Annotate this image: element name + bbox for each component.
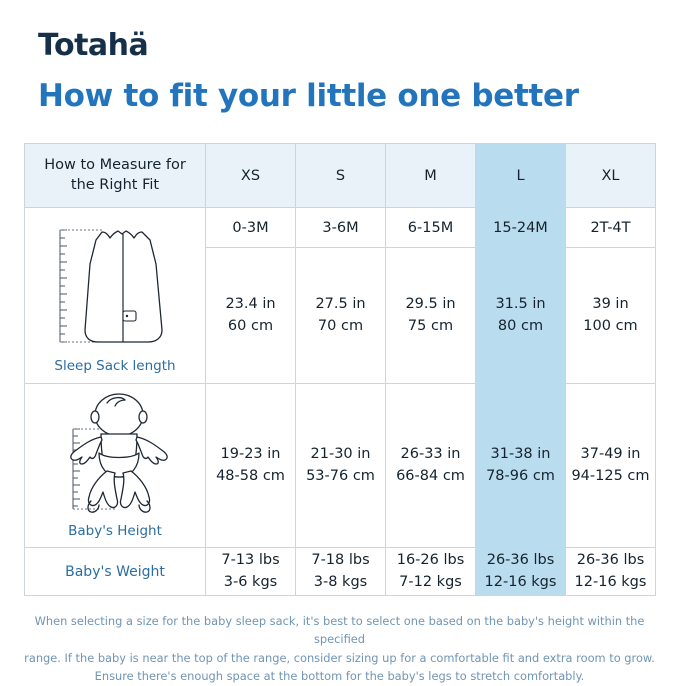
page-title: How to fit your little one better <box>38 78 579 114</box>
table-row-baby-weight: Baby's Weight 7-13 lbs 3-6 kgs 7-18 lbs … <box>25 548 656 596</box>
header-size-m: M <box>386 144 476 208</box>
cell-length-m: 29.5 in 75 cm <box>386 248 476 384</box>
cell-length-xl-cm: 100 cm <box>566 316 655 337</box>
row-label-baby-weight: Baby's Weight <box>65 564 165 580</box>
cell-length-s-in: 27.5 in <box>296 294 385 315</box>
cell-height-xs-cm: 48-58 cm <box>206 466 295 487</box>
size-chart-page: Totahä How to fit your little one better… <box>0 0 679 679</box>
cell-length-xl-in: 39 in <box>566 294 655 315</box>
cell-weight-l-lbs: 26-36 lbs <box>476 550 565 571</box>
sleep-sack-figure-cell: Sleep Sack length <box>25 208 206 384</box>
cell-length-m-in: 29.5 in <box>386 294 475 315</box>
cell-height-xl-in: 37-49 in <box>566 444 655 465</box>
cell-weight-l: 26-36 lbs 12-16 kgs <box>476 548 566 596</box>
footer-note: When selecting a size for the baby sleep… <box>22 612 657 686</box>
cell-length-xs: 23.4 in 60 cm <box>206 248 296 384</box>
header-size-s: S <box>296 144 386 208</box>
footer-line-1: When selecting a size for the baby sleep… <box>22 612 657 649</box>
cell-height-m-in: 26-33 in <box>386 444 475 465</box>
cell-height-s-cm: 53-76 cm <box>296 466 385 487</box>
size-chart-table: How to Measure for the Right Fit XS S M … <box>24 143 656 596</box>
cell-age-m: 6-15M <box>386 208 476 248</box>
table-row-baby-height: Baby's Height 19-23 in 48-58 cm 21-30 in… <box>25 384 656 548</box>
cell-height-xs: 19-23 in 48-58 cm <box>206 384 296 548</box>
cell-length-xs-in: 23.4 in <box>206 294 295 315</box>
sleep-sack-figure: Sleep Sack length <box>25 218 205 374</box>
header-size-xl: XL <box>566 144 656 208</box>
cell-length-s: 27.5 in 70 cm <box>296 248 386 384</box>
baby-figure: Baby's Height <box>25 393 205 539</box>
table-header-row: How to Measure for the Right Fit XS S M … <box>25 144 656 208</box>
cell-age-xs: 0-3M <box>206 208 296 248</box>
cell-weight-xl: 26-36 lbs 12-16 kgs <box>566 548 656 596</box>
cell-weight-xs-lbs: 7-13 lbs <box>206 550 295 571</box>
cell-height-m: 26-33 in 66-84 cm <box>386 384 476 548</box>
cell-weight-m-kgs: 7-12 kgs <box>386 572 475 593</box>
cell-weight-xl-kgs: 12-16 kgs <box>566 572 655 593</box>
cell-height-m-cm: 66-84 cm <box>386 466 475 487</box>
baby-height-caption: Baby's Height <box>68 523 162 539</box>
cell-height-l-cm: 78-96 cm <box>476 466 565 487</box>
header-measure-label: How to Measure for the Right Fit <box>25 144 206 208</box>
cell-weight-xl-lbs: 26-36 lbs <box>566 550 655 571</box>
cell-length-xl: 39 in 100 cm <box>566 248 656 384</box>
footer-line-3: Ensure there's enough space at the botto… <box>22 667 657 685</box>
cell-height-xl-cm: 94-125 cm <box>566 466 655 487</box>
cell-age-s: 3-6M <box>296 208 386 248</box>
sleep-sack-caption: Sleep Sack length <box>54 358 175 374</box>
cell-weight-m-lbs: 16-26 lbs <box>386 550 475 571</box>
cell-height-s: 21-30 in 53-76 cm <box>296 384 386 548</box>
baby-icon <box>29 393 201 521</box>
cell-height-xs-in: 19-23 in <box>206 444 295 465</box>
cell-weight-s-lbs: 7-18 lbs <box>296 550 385 571</box>
brand-logo: Totahä <box>38 28 148 63</box>
cell-length-xs-cm: 60 cm <box>206 316 295 337</box>
cell-weight-s-kgs: 3-8 kgs <box>296 572 385 593</box>
cell-age-xl: 2T-4T <box>566 208 656 248</box>
row-label-baby-weight-cell: Baby's Weight <box>25 548 206 596</box>
size-chart-table-wrapper: How to Measure for the Right Fit XS S M … <box>24 143 655 596</box>
cell-length-s-cm: 70 cm <box>296 316 385 337</box>
header-size-xs: XS <box>206 144 296 208</box>
cell-length-m-cm: 75 cm <box>386 316 475 337</box>
cell-length-l-cm: 80 cm <box>476 316 565 337</box>
cell-height-s-in: 21-30 in <box>296 444 385 465</box>
cell-weight-xs-kgs: 3-6 kgs <box>206 572 295 593</box>
footer-line-2: range. If the baby is near the top of th… <box>22 649 657 667</box>
cell-length-l-in: 31.5 in <box>476 294 565 315</box>
cell-weight-m: 16-26 lbs 7-12 kgs <box>386 548 476 596</box>
cell-age-l: 15-24M <box>476 208 566 248</box>
cell-height-l: 31-38 in 78-96 cm <box>476 384 566 548</box>
brand-name: Totahä <box>38 28 148 63</box>
cell-height-l-in: 31-38 in <box>476 444 565 465</box>
table-row-age: Sleep Sack length 0-3M 3-6M 6-15M 15-24M… <box>25 208 656 248</box>
cell-weight-l-kgs: 12-16 kgs <box>476 572 565 593</box>
cell-weight-s: 7-18 lbs 3-8 kgs <box>296 548 386 596</box>
baby-figure-cell: Baby's Height <box>25 384 206 548</box>
cell-height-xl: 37-49 in 94-125 cm <box>566 384 656 548</box>
cell-weight-xs: 7-13 lbs 3-6 kgs <box>206 548 296 596</box>
header-size-l: L <box>476 144 566 208</box>
cell-length-l: 31.5 in 80 cm <box>476 248 566 384</box>
sleep-sack-icon <box>30 218 200 356</box>
